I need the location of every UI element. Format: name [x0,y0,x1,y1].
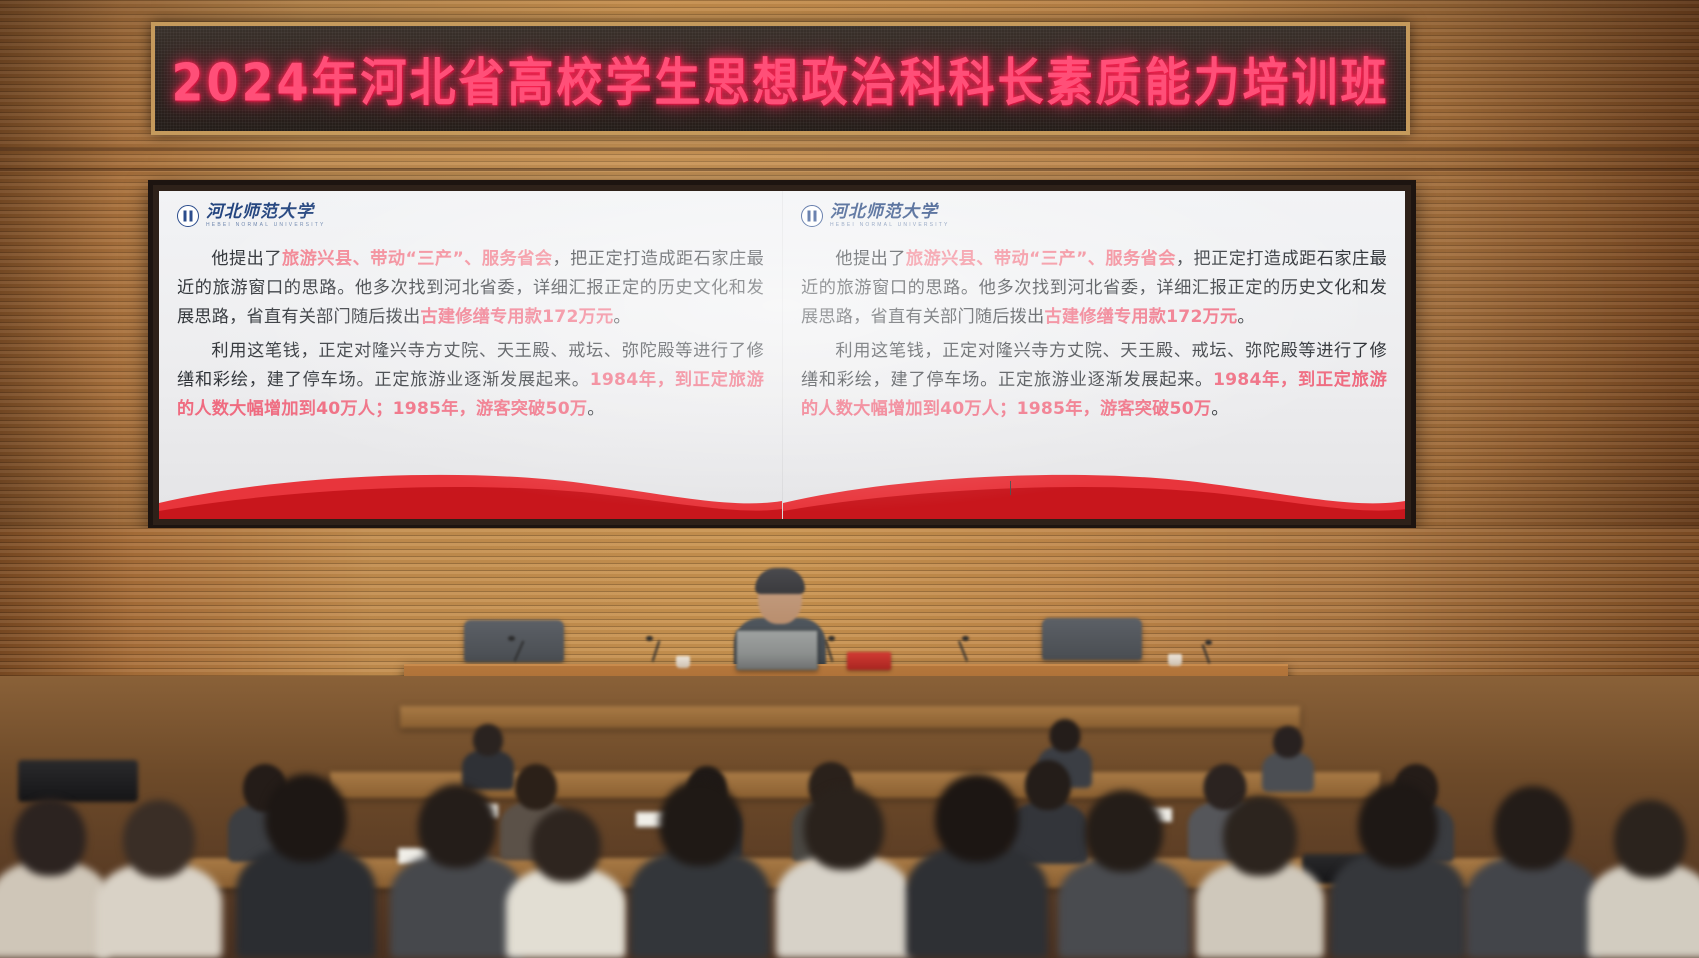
attendee-torso [390,854,524,958]
tea-cup [676,656,690,668]
slide-text-body: 他提出了旅游兴县、带动“三产”、服务省会，把正定打造成距石家庄最近的旅游窗口的思… [801,245,1387,424]
attendee-torso [1466,856,1600,958]
university-logo: 河北师范大学 HEBEI NORMAL UNIVERSITY [177,203,764,229]
tea-cup [1168,654,1182,666]
attendee-head [418,784,496,868]
attendee-head [473,724,503,756]
slide-panel-right: 河北师范大学 HEBEI NORMAL UNIVERSITY 他提出了旅游兴县、… [782,191,1405,519]
attendee-torso [96,864,222,958]
seg-highlight: 古建修缮专用款172万元 [1044,307,1237,327]
attendee-torso [1262,752,1314,792]
seg-highlight: 旅游兴县、带动“三产”、服务省会 [282,249,553,269]
attendee [0,808,110,958]
attendee [1466,800,1600,958]
attendee-torso [1588,864,1699,958]
slide-wave-decoration [783,459,1405,519]
slide-paragraph-2: 利用这笔钱，正定对隆兴寺方丈院、天王殿、戒坛、弥陀殿等进行了修缮和彩绘，建了停车… [177,337,764,425]
conference-hall-scene: 2024年河北省高校学生思想政治科科长素质能力培训班 河北师范大学 HEBEI … [0,0,1699,958]
desk-row [400,706,1300,728]
attendee-head [804,786,884,870]
university-name-en: HEBEI NORMAL UNIVERSITY [206,223,326,228]
seg-highlight: 旅游兴县、带动“三产”、服务省会 [906,249,1176,269]
attendee-torso [236,846,376,958]
seg-plain: 。 [613,307,630,327]
projection-screen-surface: 河北师范大学 HEBEI NORMAL UNIVERSITY 他提出了旅游兴县、… [159,191,1405,519]
presenter-hair [755,568,805,594]
attendee-head [265,774,347,862]
chair-right [1042,618,1142,660]
attendee-head [659,780,741,866]
attendee-head [1050,719,1081,752]
university-seal-icon [177,205,199,227]
attendee-head [1358,782,1438,868]
university-seal-icon [801,205,823,227]
slide-wave-decoration [159,459,782,519]
attendee-head [1614,800,1686,878]
microphone-head [646,636,653,641]
attendee [630,792,770,958]
seg-highlight: 古建修缮专用款172万元 [420,307,613,327]
attendee [1588,812,1699,958]
seg-plain: 他提出了 [211,249,282,269]
seg-plain: 他提出了 [835,249,905,269]
led-banner: 2024年河北省高校学生思想政治科科长素质能力培训班 [151,22,1410,135]
audience-area: 河北省高校学生思想政治科科长 素质能力培训班 [0,676,1699,958]
attendee [390,798,524,958]
microphone-head [508,636,515,641]
attendee [776,800,912,958]
attendee-head [1273,726,1303,758]
projection-screen: 河北师范大学 HEBEI NORMAL UNIVERSITY 他提出了旅游兴县、… [148,180,1416,530]
attendee [906,786,1048,958]
bag [18,760,138,802]
led-banner-text: 2024年河北省高校学生思想政治科科长素质能力培训班 [171,42,1389,116]
attendee-head [1085,790,1163,872]
attendee-torso [776,856,912,958]
attendee-head [531,808,601,882]
attendee-head [1223,796,1297,876]
attendee [506,818,626,958]
attendee [1058,802,1190,958]
open-laptop [736,630,818,670]
slide-text-body: 他提出了旅游兴县、带动“三产”、服务省会，把正定打造成距石家庄最近的旅游窗口的思… [177,245,764,424]
seg-plain: 。 [1211,399,1228,419]
mouse-cursor [1010,481,1011,495]
microphone-head [828,636,835,641]
attendee-head [935,774,1019,862]
microphone-head [1205,640,1212,645]
microphone-head [962,636,969,641]
seg-plain: 。 [587,399,604,419]
seg-plain: 。 [1237,307,1254,327]
red-nameplate [847,652,891,670]
slide-paragraph-2: 利用这笔钱，正定对隆兴寺方丈院、天王殿、戒坛、弥陀殿等进行了修缮和彩绘，建了停车… [801,337,1387,425]
attendee [96,812,222,958]
university-name-cn: 河北师范大学 [830,204,950,221]
led-screen: 2024年河北省高校学生思想政治科科长素质能力培训班 [155,26,1406,131]
attendee [1330,794,1466,958]
attendee-torso [630,850,770,958]
attendee-torso [0,862,110,958]
attendee-head [14,798,86,876]
attendee-head [123,800,195,878]
slide-paragraph-1: 他提出了旅游兴县、带动“三产”、服务省会，把正定打造成距石家庄最近的旅游窗口的思… [801,245,1387,333]
attendee [1196,808,1324,958]
attendee [1262,730,1314,792]
attendee-torso [1058,858,1190,958]
slide-panel-left: 河北师范大学 HEBEI NORMAL UNIVERSITY 他提出了旅游兴县、… [159,191,782,519]
attendee-head [1494,786,1572,870]
attendee-torso [906,846,1048,958]
chair-left [464,620,564,662]
attendee [236,786,376,958]
attendee-torso [1196,862,1324,958]
university-logo: 河北师范大学 HEBEI NORMAL UNIVERSITY [801,203,1387,229]
slide-paragraph-1: 他提出了旅游兴县、带动“三产”、服务省会，把正定打造成距石家庄最近的旅游窗口的思… [177,245,764,333]
university-name-cn: 河北师范大学 [206,204,326,221]
university-name-en: HEBEI NORMAL UNIVERSITY [830,223,950,228]
